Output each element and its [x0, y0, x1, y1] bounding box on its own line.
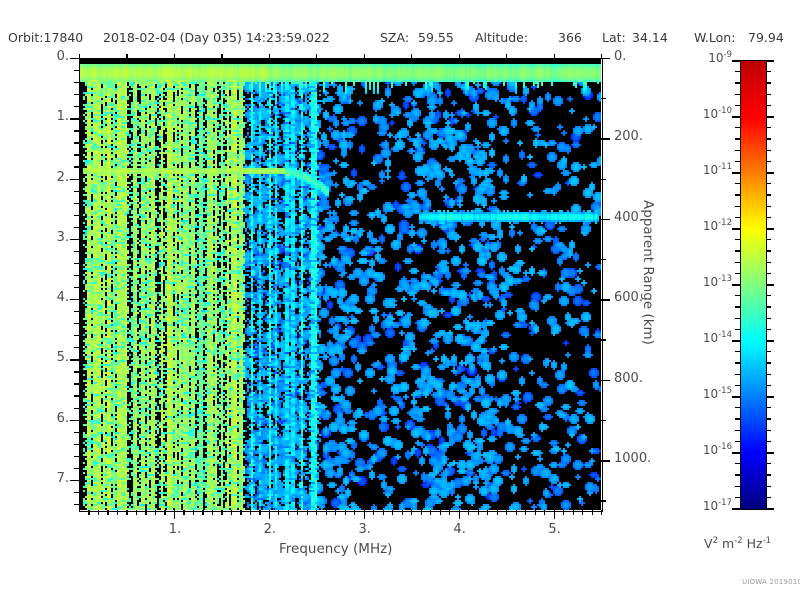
- altitude-value: 366: [558, 30, 582, 45]
- x-axis-tick-minor: [183, 510, 184, 515]
- colorbar-tick-minor: [735, 127, 740, 128]
- x-axis-top-tick: [126, 54, 127, 58]
- x-axis-tick-minor: [326, 510, 327, 515]
- y-axis-tick-minor: [74, 227, 79, 228]
- x-axis-top-tick: [554, 54, 555, 58]
- colorbar-tick-minor: [766, 250, 771, 251]
- colorbar-tick-minor: [766, 385, 771, 386]
- y2-axis-tick-minor: [601, 259, 606, 260]
- colorbar-tick-exponent: -17: [718, 498, 732, 508]
- colorbar-tick-major-right: [766, 340, 774, 342]
- y2-axis-tick-label: 200.: [614, 129, 643, 144]
- x-axis-tick-label: 1.: [163, 522, 187, 537]
- colorbar-tick-minor: [735, 418, 740, 419]
- colorbar-tick-minor: [735, 486, 740, 487]
- colorbar-tick-minor: [766, 441, 771, 442]
- x-axis-top-tick: [221, 54, 222, 58]
- x-axis-tick-minor: [212, 510, 213, 515]
- unit-hertz: Hz: [747, 536, 763, 551]
- y2-axis-tick-major: [601, 219, 610, 220]
- x-axis-tick-label: 2.: [258, 522, 282, 537]
- x-axis-top-tick: [79, 54, 80, 58]
- colorbar-tick-major-right: [766, 60, 774, 62]
- colorbar-tick-minor: [735, 239, 740, 240]
- y-axis-tick-minor: [74, 456, 79, 457]
- x-axis-tick-minor: [421, 510, 422, 515]
- x-axis-top-tick: [411, 54, 412, 58]
- x-axis-top-tick: [174, 54, 175, 58]
- colorbar-tick-minor: [735, 430, 740, 431]
- colorbar-tick-major: [732, 228, 740, 230]
- colorbar-tick-minor: [766, 318, 771, 319]
- unit-volts-exponent: 2: [713, 536, 718, 546]
- colorbar-tick-minor: [735, 474, 740, 475]
- x-axis-tick-minor: [297, 510, 298, 515]
- x-axis-tick-minor: [544, 510, 545, 515]
- colorbar-tick-minor: [735, 105, 740, 106]
- y2-axis-tick-label: 600.: [614, 290, 643, 305]
- x-axis-tick-minor: [592, 510, 593, 515]
- y2-axis-tick-major: [601, 299, 610, 300]
- colorbar-tick-major: [732, 508, 740, 510]
- unit-volts: V: [704, 536, 713, 551]
- colorbar-tick-label: 10-13: [682, 274, 732, 289]
- x-axis-top-tick: [364, 54, 365, 58]
- y-axis-tick-minor: [74, 70, 79, 71]
- wlon-label: W.Lon:: [694, 30, 735, 45]
- y-axis-tick-minor: [74, 311, 79, 312]
- x-axis-tick-minor: [250, 510, 251, 515]
- y-axis-tick-minor: [74, 395, 79, 396]
- y-axis-tick-minor: [74, 106, 79, 107]
- x-axis-tick-major: [174, 510, 175, 519]
- y-axis-tick-minor: [74, 432, 79, 433]
- colorbar-tick-minor: [735, 463, 740, 464]
- colorbar-tick-exponent: -15: [718, 386, 732, 396]
- y-axis-tick-minor: [74, 166, 79, 167]
- colorbar-tick-minor: [735, 351, 740, 352]
- lat-label: Lat:: [602, 30, 626, 45]
- colorbar-tick-major-right: [766, 396, 774, 398]
- colorbar-tick-base: 10: [703, 219, 718, 233]
- colorbar-tick-minor: [735, 273, 740, 274]
- watermark: UIOWA 20190103: [742, 578, 800, 586]
- x-axis-tick-major: [554, 510, 555, 519]
- y2-axis-tick-major: [601, 380, 610, 381]
- x-axis-tick-minor: [383, 510, 384, 515]
- unit-hertz-exponent: -1: [763, 536, 771, 546]
- y2-axis-tick-minor: [601, 98, 606, 99]
- y-axis-tick-minor: [74, 287, 79, 288]
- observation-datetime: 2018-02-04 (Day 035) 14:23:59.022: [103, 30, 330, 45]
- colorbar-tick-minor: [766, 94, 771, 95]
- lat-value: 34.14: [632, 30, 668, 45]
- colorbar-tick-label: 10-15: [682, 386, 732, 401]
- y2-axis-tick-minor: [601, 500, 606, 501]
- colorbar-tick-minor: [735, 194, 740, 195]
- colorbar-tick-minor: [766, 306, 771, 307]
- colorbar-tick-exponent: -12: [718, 218, 732, 228]
- x-axis-tick-minor: [430, 510, 431, 515]
- colorbar-tick-minor: [735, 183, 740, 184]
- x-axis-tick-major: [364, 510, 365, 519]
- colorbar-tick-minor: [735, 217, 740, 218]
- x-axis-tick-minor: [98, 510, 99, 515]
- y-axis-tick-minor: [74, 383, 79, 384]
- y-axis-tick-minor: [74, 82, 79, 83]
- x-axis-tick-minor: [516, 510, 517, 515]
- colorbar-tick-minor: [735, 206, 740, 207]
- x-axis-tick-minor: [373, 510, 374, 515]
- y-axis-tick-minor: [74, 444, 79, 445]
- colorbar-tick-exponent: -11: [718, 162, 732, 172]
- colorbar-tick-exponent: -14: [718, 330, 732, 340]
- colorbar-tick-exponent: -9: [724, 50, 732, 60]
- y2-axis-tick-minor: [601, 339, 606, 340]
- colorbar-tick-minor: [766, 497, 771, 498]
- colorbar-tick-minor: [735, 295, 740, 296]
- colorbar-tick-base: 10: [708, 51, 723, 65]
- y-axis-tick-minor: [74, 323, 79, 324]
- colorbar-tick-minor: [766, 194, 771, 195]
- y-axis-tick-minor: [74, 335, 79, 336]
- y-axis-tick-label: 7.: [37, 471, 69, 486]
- x-axis-tick-minor: [136, 510, 137, 515]
- y-axis-tick-minor: [74, 492, 79, 493]
- colorbar-tick-minor: [735, 82, 740, 83]
- y-axis-tick-minor: [74, 130, 79, 131]
- colorbar-tick-minor: [766, 217, 771, 218]
- colorbar-tick-minor: [735, 362, 740, 363]
- y-axis-tick-label: 4.: [37, 290, 69, 305]
- colorbar-tick-minor: [766, 362, 771, 363]
- colorbar-tick-base: 10: [703, 443, 718, 457]
- colorbar-tick-minor: [735, 497, 740, 498]
- y-axis-tick-minor: [74, 215, 79, 216]
- x-axis-tick-minor: [231, 510, 232, 515]
- colorbar-tick-base: 10: [703, 163, 718, 177]
- colorbar-tick-label: 10-14: [682, 330, 732, 345]
- x-axis-tick-minor: [164, 510, 165, 515]
- y-axis-tick-major: [70, 58, 79, 59]
- y2-axis-tick-minor: [601, 179, 606, 180]
- colorbar-tick-minor: [766, 150, 771, 151]
- x-axis-tick-minor: [582, 510, 583, 515]
- y2-axis-tick-minor: [601, 420, 606, 421]
- colorbar-tick-minor: [766, 486, 771, 487]
- y2-axis-tick-major: [601, 58, 610, 59]
- y2-axis-tick-major: [601, 460, 610, 461]
- colorbar-tick-minor: [766, 430, 771, 431]
- x-axis-tick-minor: [392, 510, 393, 515]
- colorbar-tick-major-right: [766, 116, 774, 118]
- y2-axis-tick-label: 0.: [614, 49, 626, 64]
- colorbar-tick-minor: [766, 418, 771, 419]
- y-axis-tick-major: [70, 179, 79, 180]
- x-axis-top-tick: [459, 54, 460, 58]
- x-axis-tick-minor: [449, 510, 450, 515]
- x-axis-tick-minor: [145, 510, 146, 515]
- x-axis-tick-minor: [440, 510, 441, 515]
- x-axis-tick-minor: [573, 510, 574, 515]
- y-axis-tick-minor: [74, 94, 79, 95]
- y-axis-tick-major: [70, 480, 79, 481]
- x-axis-tick-label: 3.: [353, 522, 377, 537]
- colorbar-tick-minor: [735, 262, 740, 263]
- colorbar-tick-minor: [735, 71, 740, 72]
- x-axis-tick-minor: [155, 510, 156, 515]
- x-axis-tick-minor: [88, 510, 89, 515]
- sza-label: SZA:: [380, 30, 409, 45]
- colorbar-tick-base: 10: [703, 499, 718, 513]
- unit-meters: m: [722, 536, 734, 551]
- x-axis-tick-minor: [278, 510, 279, 515]
- colorbar: [740, 60, 767, 510]
- x-axis-tick-minor: [107, 510, 108, 515]
- colorbar-tick-minor: [735, 150, 740, 151]
- y-axis-tick-minor: [74, 408, 79, 409]
- colorbar-tick-minor: [766, 71, 771, 72]
- x-axis-tick-minor: [411, 510, 412, 515]
- x-axis-tick-minor: [497, 510, 498, 515]
- x-axis-tick-minor: [468, 510, 469, 515]
- y-axis-tick-label: 0.: [37, 49, 69, 64]
- colorbar-tick-major: [732, 172, 740, 174]
- y2-axis-title: Apparent Range (km): [640, 200, 656, 345]
- x-axis-tick-minor: [402, 510, 403, 515]
- colorbar-tick-minor: [766, 295, 771, 296]
- colorbar-tick-minor: [735, 161, 740, 162]
- colorbar-tick-label: 10-17: [682, 498, 732, 513]
- x-axis-tick-minor: [506, 510, 507, 515]
- colorbar-tick-label: 10-16: [682, 442, 732, 457]
- unit-meters-exponent: -2: [734, 536, 742, 546]
- colorbar-tick-base: 10: [703, 331, 718, 345]
- x-axis-tick-minor: [525, 510, 526, 515]
- colorbar-tick-exponent: -10: [718, 106, 732, 116]
- colorbar-tick-major: [732, 396, 740, 398]
- colorbar-tick-label: 10-10: [682, 106, 732, 121]
- colorbar-tick-minor: [735, 250, 740, 251]
- y-axis-tick-minor: [74, 251, 79, 252]
- x-axis-tick-minor: [316, 510, 317, 515]
- y-axis-tick-minor: [74, 371, 79, 372]
- x-axis-tick-label: 4.: [448, 522, 472, 537]
- colorbar-tick-exponent: -13: [718, 274, 732, 284]
- colorbar-tick-label: 10-11: [682, 162, 732, 177]
- x-axis-tick-minor: [240, 510, 241, 515]
- y-axis-tick-label: 2.: [37, 170, 69, 185]
- colorbar-tick-major-right: [766, 228, 774, 230]
- y2-axis-tick-label: 1000.: [614, 451, 651, 466]
- colorbar-tick-minor: [766, 463, 771, 464]
- x-axis-tick-minor: [288, 510, 289, 515]
- x-axis-tick-label: 5.: [543, 522, 567, 537]
- colorbar-tick-minor: [766, 407, 771, 408]
- x-axis-title: Frequency (MHz): [279, 541, 392, 557]
- y-axis-tick-minor: [74, 263, 79, 264]
- x-axis-tick-minor: [193, 510, 194, 515]
- y-axis-tick-minor: [74, 203, 79, 204]
- y-axis-tick-label: 3.: [37, 230, 69, 245]
- x-axis-tick-minor: [535, 510, 536, 515]
- x-axis-top-tick: [316, 54, 317, 58]
- sza-value: 59.55: [418, 30, 454, 45]
- colorbar-tick-major-right: [766, 508, 774, 510]
- x-axis-tick-minor: [601, 510, 602, 515]
- colorbar-tick-minor: [766, 351, 771, 352]
- colorbar-tick-base: 10: [703, 275, 718, 289]
- x-axis-tick-minor: [117, 510, 118, 515]
- colorbar-tick-major-right: [766, 172, 774, 174]
- colorbar-tick-minor: [766, 273, 771, 274]
- x-axis-tick-minor: [126, 510, 127, 515]
- colorbar-tick-minor: [735, 138, 740, 139]
- x-axis-tick-major: [459, 510, 460, 519]
- ionogram-heatmap[interactable]: [79, 58, 601, 510]
- x-axis-top-tick: [269, 54, 270, 58]
- colorbar-tick-minor: [766, 82, 771, 83]
- colorbar-tick-minor: [735, 407, 740, 408]
- y-axis-tick-minor: [74, 504, 79, 505]
- x-axis-tick-minor: [354, 510, 355, 515]
- x-axis-top-tick: [601, 54, 602, 58]
- y-axis-tick-label: 1.: [37, 109, 69, 124]
- y-axis-tick-label: 6.: [37, 411, 69, 426]
- y-axis-tick-major: [70, 118, 79, 119]
- y-axis-tick-major: [70, 239, 79, 240]
- colorbar-tick-minor: [735, 329, 740, 330]
- colorbar-tick-minor: [735, 374, 740, 375]
- colorbar-tick-minor: [766, 262, 771, 263]
- colorbar-tick-minor: [766, 239, 771, 240]
- colorbar-tick-minor: [735, 306, 740, 307]
- colorbar-tick-minor: [766, 138, 771, 139]
- colorbar-tick-minor: [735, 318, 740, 319]
- colorbar-tick-label: 10-12: [682, 218, 732, 233]
- x-axis-tick-minor: [202, 510, 203, 515]
- colorbar-tick-major: [732, 284, 740, 286]
- colorbar-tick-minor: [766, 183, 771, 184]
- orbit-label: Orbit:17840: [8, 30, 83, 45]
- colorbar-tick-major-right: [766, 284, 774, 286]
- x-axis-tick-minor: [221, 510, 222, 515]
- x-axis-tick-minor: [335, 510, 336, 515]
- y-axis-tick-minor: [74, 275, 79, 276]
- x-axis-tick-minor: [259, 510, 260, 515]
- colorbar-tick-minor: [766, 474, 771, 475]
- colorbar-tick-minor: [766, 105, 771, 106]
- x-axis-tick-minor: [478, 510, 479, 515]
- y-axis-tick-minor: [74, 468, 79, 469]
- colorbar-tick-minor: [766, 206, 771, 207]
- colorbar-tick-major: [732, 452, 740, 454]
- colorbar-tick-minor: [735, 441, 740, 442]
- colorbar-tick-major: [732, 116, 740, 118]
- colorbar-tick-base: 10: [703, 387, 718, 401]
- colorbar-unit-label: V2 m-2 Hz-1: [704, 536, 771, 551]
- colorbar-tick-major: [732, 340, 740, 342]
- y-axis-tick-minor: [74, 154, 79, 155]
- y-axis-tick-major: [70, 420, 79, 421]
- y-axis-tick-label: 5.: [37, 350, 69, 365]
- colorbar-tick-minor: [766, 127, 771, 128]
- y-axis-tick-major: [70, 359, 79, 360]
- x-axis-tick-minor: [345, 510, 346, 515]
- y-axis-tick-minor: [74, 191, 79, 192]
- colorbar-tick-minor: [735, 94, 740, 95]
- colorbar-tick-minor: [766, 374, 771, 375]
- colorbar-tick-base: 10: [703, 107, 718, 121]
- y-axis-tick-minor: [74, 347, 79, 348]
- x-axis-tick-major: [269, 510, 270, 519]
- x-axis-tick-minor: [307, 510, 308, 515]
- y2-axis-tick-major: [601, 138, 610, 139]
- wlon-value: 79.94: [748, 30, 784, 45]
- colorbar-tick-major: [732, 60, 740, 62]
- header-info-bar: Orbit:17840 2018-02-04 (Day 035) 14:23:5…: [0, 30, 800, 50]
- y-axis-tick-minor: [74, 142, 79, 143]
- y2-axis-tick-label: 400.: [614, 210, 643, 225]
- x-axis-tick-minor: [563, 510, 564, 515]
- colorbar-tick-minor: [766, 161, 771, 162]
- colorbar-tick-minor: [766, 329, 771, 330]
- y2-axis-tick-label: 800.: [614, 371, 643, 386]
- x-axis-top-tick: [506, 54, 507, 58]
- colorbar-tick-exponent: -16: [718, 442, 732, 452]
- colorbar-tick-major-right: [766, 452, 774, 454]
- x-axis-tick-minor: [487, 510, 488, 515]
- altitude-label: Altitude:: [475, 30, 528, 45]
- colorbar-tick-minor: [735, 385, 740, 386]
- colorbar-tick-label: 10-9: [682, 50, 732, 65]
- y-axis-tick-major: [70, 299, 79, 300]
